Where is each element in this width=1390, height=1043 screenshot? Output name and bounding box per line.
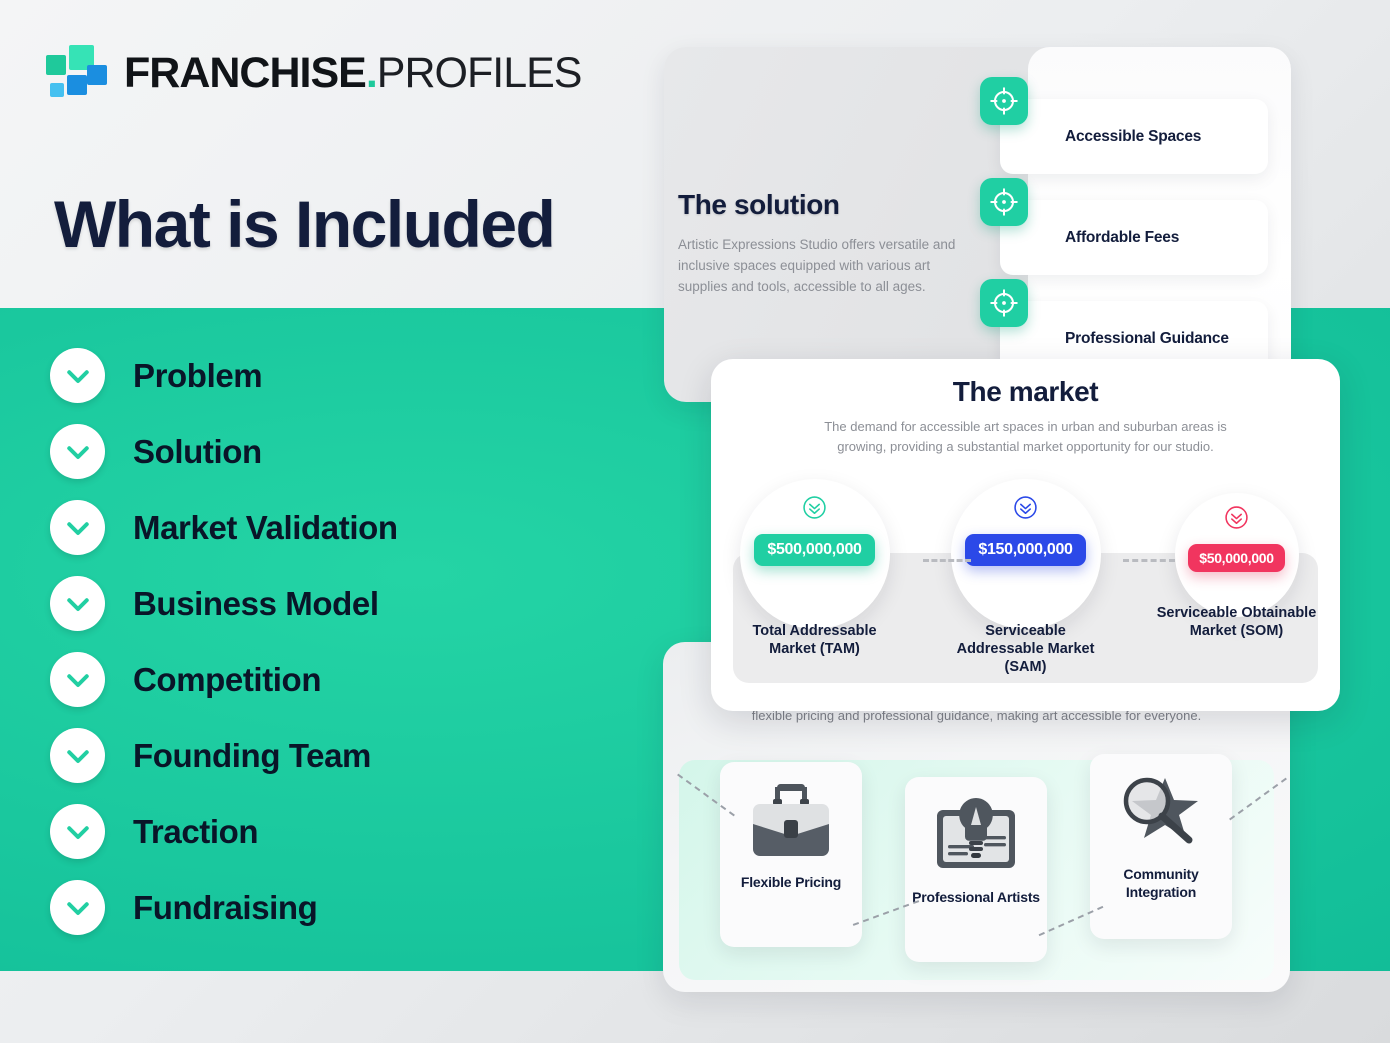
- double-chevron-down-icon: [1155, 505, 1318, 530]
- sidebar-item-label: Market Validation: [133, 509, 398, 547]
- chevron-down-icon: [50, 652, 105, 707]
- solution-description: Artistic Expressions Studio offers versa…: [678, 235, 968, 298]
- chevron-down-icon: [50, 728, 105, 783]
- tier-value-badge: $50,000,000: [1188, 544, 1285, 572]
- list-item[interactable]: Solution: [50, 424, 610, 479]
- market-tiers: $500,000,000 Total Addressable Market (T…: [733, 479, 1318, 694]
- value-prop-card[interactable]: Flexible Pricing: [720, 762, 862, 947]
- list-item[interactable]: Affordable Fees: [980, 178, 1280, 279]
- solution-card: The solution Artistic Expressions Studio…: [664, 47, 1291, 402]
- connector-dash: [923, 559, 971, 562]
- sidebar-item-label: Solution: [133, 433, 262, 471]
- crosshair-target-icon: [980, 77, 1028, 125]
- chevron-down-icon: [50, 576, 105, 631]
- solution-feature-card[interactable]: Accessible Spaces: [1000, 99, 1268, 174]
- solution-feature-label: Professional Guidance: [1065, 330, 1229, 348]
- market-card: The market The demand for accessible art…: [711, 359, 1340, 711]
- chevron-down-icon: [50, 500, 105, 555]
- double-chevron-down-icon: [944, 495, 1107, 520]
- page-title: What is Included: [54, 186, 554, 262]
- value-prop-label: Community Integration: [1090, 866, 1232, 901]
- value-prop-row: Flexible Pricing: [711, 752, 1251, 972]
- solution-feature-label: Affordable Fees: [1065, 229, 1179, 247]
- market-tier-sam[interactable]: $150,000,000 Serviceable Addressable Mar…: [944, 479, 1107, 676]
- tier-label: Total Addressable Market (TAM): [733, 622, 896, 658]
- list-item[interactable]: Market Validation: [50, 500, 610, 555]
- double-chevron-down-icon: [733, 495, 896, 520]
- list-item[interactable]: Problem: [50, 348, 610, 403]
- brand-logo[interactable]: FRANCHISE.PROFILES: [46, 45, 581, 101]
- sidebar-item-label: Competition: [133, 661, 321, 699]
- slide-canvas: FRANCHISE.PROFILES What is Included Prob…: [0, 0, 1390, 1043]
- value-prop-card[interactable]: Professional Artists: [905, 777, 1047, 962]
- solution-text-block: The solution Artistic Expressions Studio…: [678, 189, 968, 298]
- chevron-down-icon: [50, 804, 105, 859]
- market-tier-tam[interactable]: $500,000,000 Total Addressable Market (T…: [733, 479, 896, 658]
- sidebar-item-label: Fundraising: [133, 889, 317, 927]
- market-description: The demand for accessible art spaces in …: [816, 417, 1236, 456]
- value-prop-label: Professional Artists: [912, 889, 1040, 907]
- brand-dot: .: [366, 49, 377, 97]
- chevron-down-icon: [50, 348, 105, 403]
- list-item[interactable]: Fundraising: [50, 880, 610, 935]
- sidebar-item-label: Problem: [133, 357, 262, 395]
- list-item[interactable]: Founding Team: [50, 728, 610, 783]
- included-sections-list: Problem Solution Market Validation Busin…: [50, 348, 610, 935]
- chevron-down-icon: [50, 880, 105, 935]
- sidebar-item-label: Traction: [133, 813, 258, 851]
- tier-value-badge: $150,000,000: [965, 534, 1085, 566]
- squares-logo-icon: [46, 45, 106, 101]
- tier-value-badge: $500,000,000: [754, 534, 874, 566]
- star-magnifier-icon: [1113, 770, 1209, 858]
- market-title: The market: [711, 376, 1340, 408]
- list-item[interactable]: Traction: [50, 804, 610, 859]
- tier-label: Serviceable Obtainable Market (SOM): [1155, 604, 1318, 640]
- solution-feature-label: Accessible Spaces: [1065, 128, 1201, 146]
- sidebar-item-label: Business Model: [133, 585, 379, 623]
- sidebar-item-label: Founding Team: [133, 737, 371, 775]
- tier-label: Serviceable Addressable Market (SAM): [944, 622, 1107, 676]
- value-prop-label: Flexible Pricing: [741, 874, 841, 892]
- connector-dash: [1123, 559, 1175, 562]
- value-prop-card[interactable]: Community Integration: [1090, 754, 1232, 939]
- solution-feature-list: Accessible Spaces Affordable Fees: [980, 77, 1280, 380]
- solution-feature-card[interactable]: Affordable Fees: [1000, 200, 1268, 275]
- list-item[interactable]: Competition: [50, 652, 610, 707]
- market-tier-som[interactable]: $50,000,000 Serviceable Obtainable Marke…: [1155, 479, 1318, 640]
- briefcase-icon: [743, 778, 839, 866]
- list-item[interactable]: Business Model: [50, 576, 610, 631]
- crosshair-target-icon: [980, 279, 1028, 327]
- solution-title: The solution: [678, 189, 968, 221]
- brand-wordmark: FRANCHISE.PROFILES: [124, 49, 581, 98]
- list-item[interactable]: Accessible Spaces: [980, 77, 1280, 178]
- brand-name-bold: FRANCHISE: [124, 49, 366, 97]
- lightbulb-certificate-icon: [928, 793, 1024, 881]
- crosshair-target-icon: [980, 178, 1028, 226]
- brand-name-light: PROFILES: [377, 49, 582, 97]
- chevron-down-icon: [50, 424, 105, 479]
